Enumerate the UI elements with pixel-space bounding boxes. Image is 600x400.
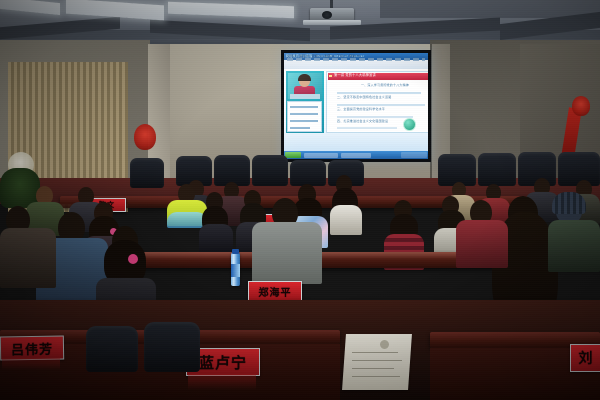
handout-seal-icon: [380, 340, 389, 349]
red-flower-decor-left: [134, 124, 156, 150]
torso: [199, 224, 233, 254]
bottle-cap: [232, 249, 239, 254]
taskbar-item-2[interactable]: [341, 153, 371, 158]
page-content: 第一讲 党的十八大精神宣讲 一、深入学习贯彻党的十八大精神 二、坚定不移走中国特…: [326, 71, 428, 133]
projector-plate: [303, 20, 361, 25]
banner-bullet-icon: [329, 75, 332, 77]
knit-beanie: [552, 192, 586, 214]
system-tray[interactable]: [401, 152, 427, 158]
placard-3: 郑海平: [248, 281, 302, 301]
projector-lens-icon: [322, 11, 332, 19]
handout-line-1: [352, 352, 398, 353]
content-text-3: 三、全面提高党的建设科学化水平: [337, 107, 385, 111]
sidebar-nav-item-2[interactable]: [290, 113, 318, 115]
taskbar-item-1[interactable]: [304, 153, 338, 158]
sidebar-nav-item-4[interactable]: [290, 127, 310, 129]
content-line-1: [337, 92, 421, 94]
start-button[interactable]: [285, 152, 301, 158]
content-text-2: 二、坚定不移走中国特色社会主义道路: [337, 95, 391, 99]
hair-tie: [128, 254, 138, 264]
content-text-4: 四、扎实推进社会主义文化强国建设: [337, 119, 388, 123]
handout-line-2: [352, 360, 402, 361]
standing-handout[interactable]: [342, 334, 412, 390]
ceiling-shadow-right: [380, 0, 600, 18]
empty-chair-4[interactable]: [290, 160, 326, 186]
projection-screen-frame: 网络教育培训课程 - Microsoft Internet Explorer 文…: [281, 50, 431, 162]
taskbar: [284, 151, 428, 159]
placard-4: 刘: [570, 344, 600, 372]
empty-chair-10[interactable]: [130, 158, 164, 188]
front-chair-left[interactable]: [86, 326, 138, 372]
empty-chair-3[interactable]: [252, 155, 288, 186]
placard-2-reflection: [188, 374, 256, 390]
sidebar-nav-item-3[interactable]: [290, 120, 318, 122]
torso: [548, 220, 600, 272]
front-chair-mid[interactable]: [144, 322, 200, 372]
content-banner-text: 第一讲 党的十八大精神宣讲: [334, 72, 376, 79]
content-line-3: [337, 116, 413, 118]
browser-address-bar[interactable]: [287, 58, 425, 61]
torso: [330, 205, 362, 235]
maroon-top: [456, 220, 508, 268]
handout-line-3: [352, 368, 394, 369]
conference-room-photo: 网络教育培训课程 - Microsoft Internet Explorer 文…: [0, 0, 600, 400]
content-seal-icon: [403, 118, 416, 131]
handout-line-4: [352, 376, 400, 377]
presenter-photo: [288, 73, 322, 99]
sidebar-nav-item-1[interactable]: [290, 106, 318, 108]
placard-1: 吕伟芳: [0, 335, 64, 360]
presenter-hair: [298, 74, 311, 81]
torso: [0, 228, 56, 288]
sidebar-nav-box[interactable]: [287, 101, 322, 132]
content-heading: 一、深入学习贯彻党的十八大精神: [361, 83, 409, 87]
content-line-4: [337, 127, 397, 129]
vest-stripe: [167, 212, 207, 228]
placard-1-reflection: [2, 358, 60, 370]
red-flower-decor-right: [572, 96, 590, 116]
presenter-desk: [290, 94, 320, 99]
grey-sweater: [252, 222, 322, 284]
projection-screen[interactable]: 网络教育培训课程 - Microsoft Internet Explorer 文…: [284, 53, 428, 159]
content-line-2: [337, 104, 425, 106]
empty-chair-7[interactable]: [478, 153, 516, 186]
bottle-label: [231, 264, 240, 277]
